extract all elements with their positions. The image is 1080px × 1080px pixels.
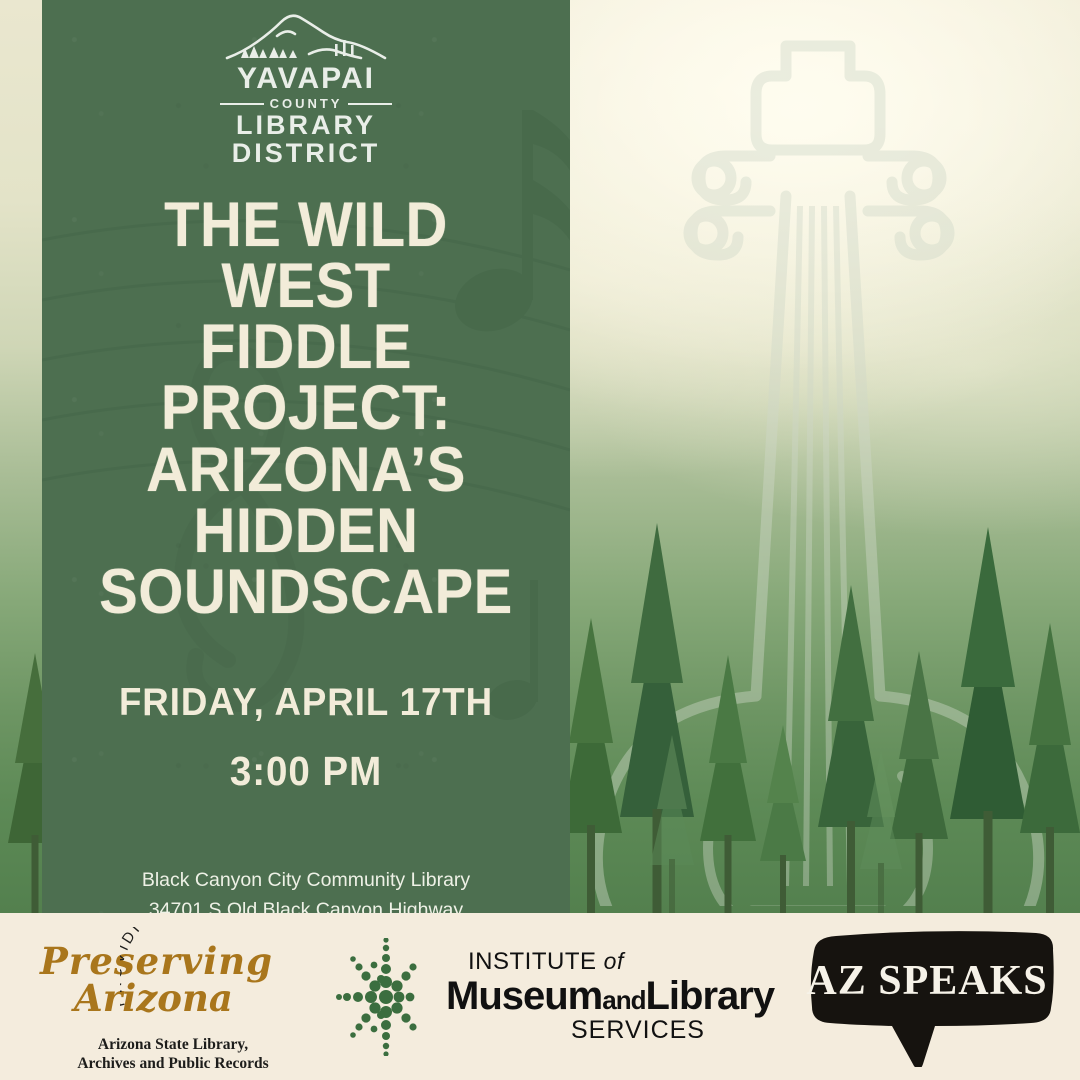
logo-rule-left: [220, 103, 264, 105]
green-content-panel: YAVAPAI COUNTY LIBRARY DISTRICT THE WILD…: [42, 0, 570, 913]
imls-and: and: [602, 985, 645, 1015]
event-time: 3:00 PM: [119, 750, 493, 793]
preserving-arizona-logo: Preserving Arizona PROVIDING ACCESS Ariz…: [0, 917, 330, 1077]
asl-caption: Arizona State Library, Archives and Publ…: [38, 1035, 308, 1074]
imls-starburst-icon: [336, 938, 428, 1056]
page-title: THE WILD WEST FIDDLE PROJECT: ARIZONA’S …: [90, 195, 522, 623]
imls-of: of: [604, 948, 624, 974]
svg-text:PROVIDING ACCESS: PROVIDING ACCESS: [120, 927, 256, 1009]
imls-institute: INSTITUTE: [468, 948, 597, 975]
imls-line-2: MuseumandLibrary: [446, 976, 774, 1016]
sponsor-logo-bar: Preserving Arizona PROVIDING ACCESS Ariz…: [0, 913, 1080, 1080]
logo-line-district: DISTRICT: [232, 140, 381, 168]
event-datetime: FRIDAY, APRIL 17TH 3:00 PM: [119, 683, 493, 793]
az-speaks-logo: AZ SPEAKS: [774, 927, 1080, 1067]
imls-line-1: INSTITUTE of: [468, 950, 774, 974]
title-line-2: FIDDLE PROJECT:: [90, 317, 522, 439]
logo-line-county: COUNTY: [270, 97, 343, 110]
logo-rule-right: [348, 103, 392, 105]
mountain-landscape-icon: [217, 14, 395, 66]
venue-street: 34701 S Old Black Canyon Highway: [142, 895, 470, 913]
imls-line-3: SERVICES: [571, 1018, 774, 1043]
yavapai-library-district-logo: YAVAPAI COUNTY LIBRARY DISTRICT: [211, 14, 401, 167]
logo-line-library: LIBRARY: [236, 112, 376, 140]
asl-caption-line-2: Archives and Public Records: [38, 1054, 308, 1073]
logo-line-yavapai: YAVAPAI: [237, 64, 375, 94]
az-speaks-label: AZ SPEAKS: [800, 957, 1055, 1005]
tree: [1020, 583, 1080, 913]
title-line-1: THE WILD WEST: [90, 195, 522, 317]
asl-caption-line-1: Arizona State Library,: [38, 1035, 308, 1054]
tree: [760, 713, 806, 913]
imls-library: Library: [645, 974, 774, 1018]
title-line-4: SOUNDSCAPE: [90, 562, 522, 623]
event-date: FRIDAY, APRIL 17TH: [119, 681, 493, 724]
venue-name: Black Canyon City Community Library: [142, 865, 470, 895]
imls-logo: INSTITUTE of MuseumandLibrary SERVICES: [330, 938, 774, 1056]
venue-block: Black Canyon City Community Library 3470…: [142, 865, 470, 913]
tree: [860, 743, 902, 913]
imls-museum: Museum: [446, 974, 602, 1018]
tree: [650, 723, 694, 913]
logo-county-row: COUNTY: [220, 97, 392, 110]
title-line-3: ARIZONA’S HIDDEN: [90, 440, 522, 562]
tree: [950, 493, 1026, 913]
tree: [700, 623, 756, 913]
event-poster: YAVAPAI COUNTY LIBRARY DISTRICT THE WILD…: [0, 0, 1080, 1080]
